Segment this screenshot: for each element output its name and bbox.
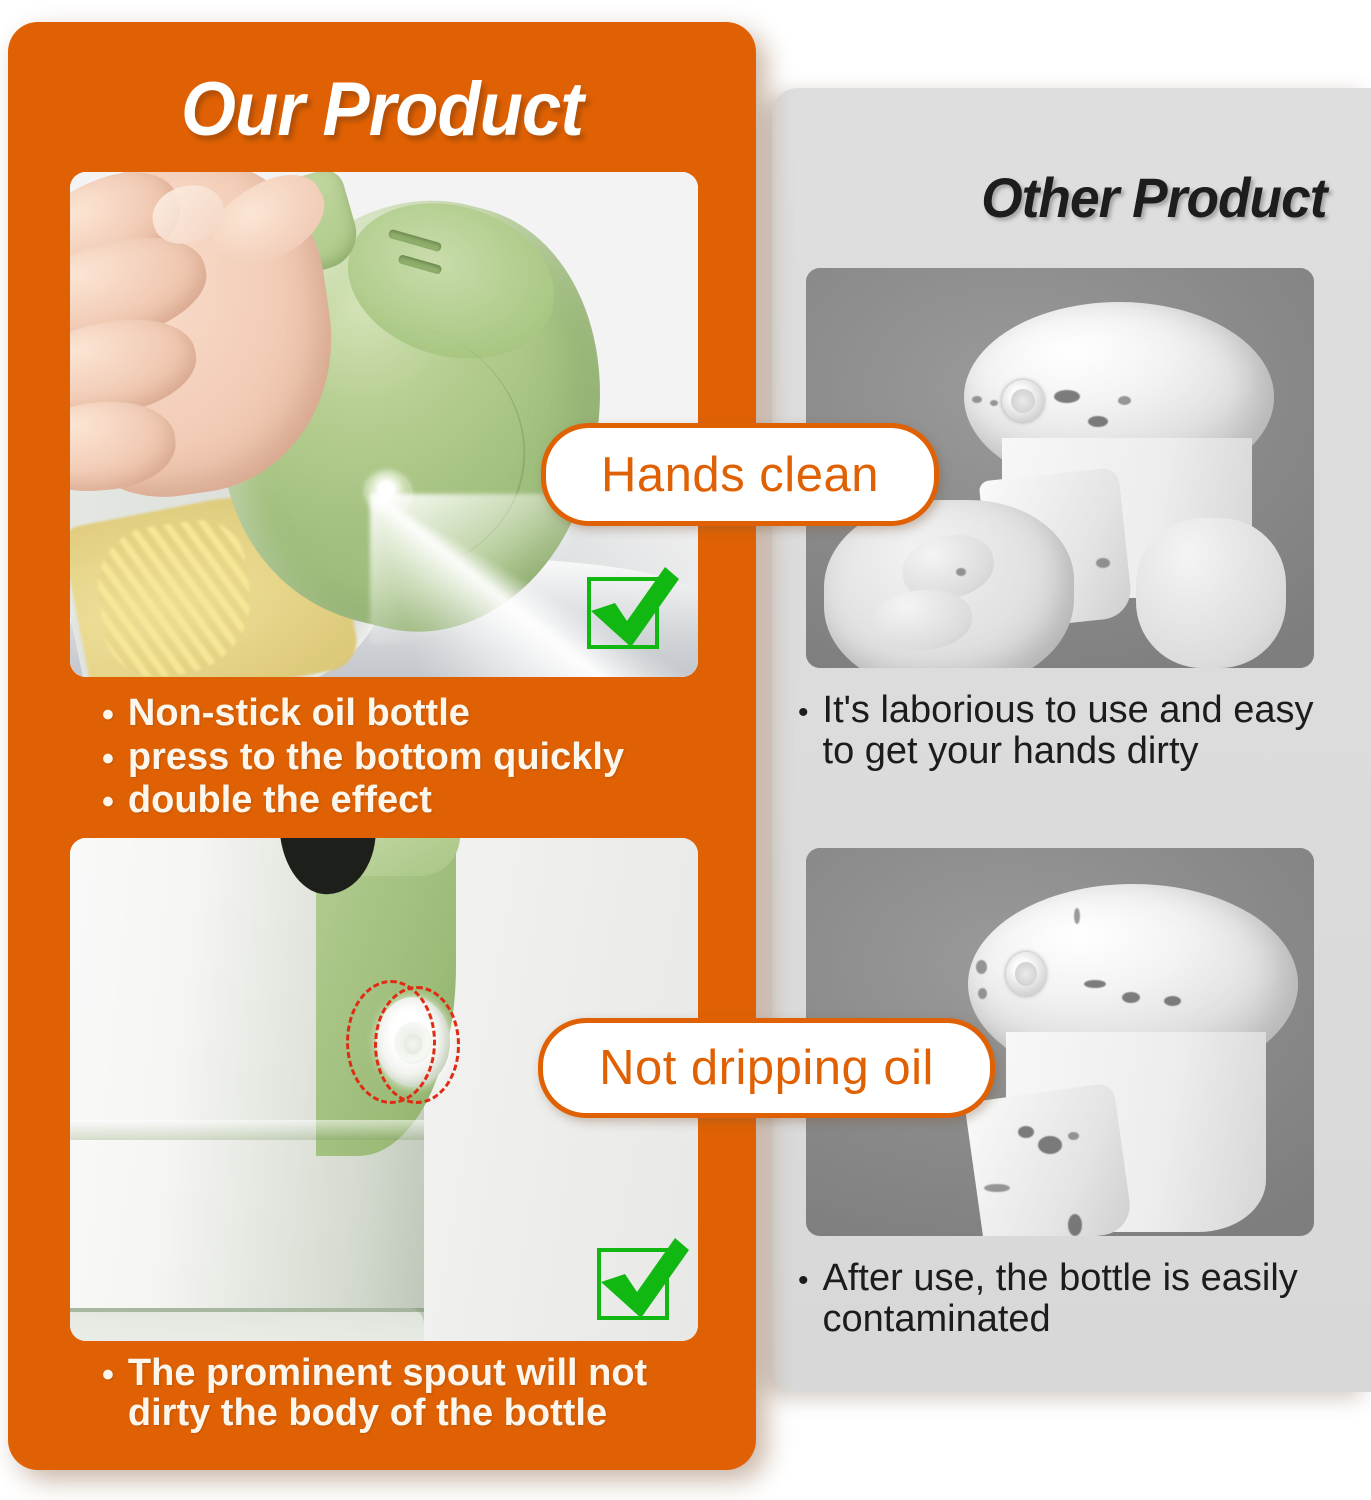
other-product-bullets-top: • It's laborious to use and easy to get … [798,690,1348,771]
other-product-bullets-bottom: • After use, the bottle is easily contam… [798,1258,1348,1339]
other-product-title: Other Product [814,165,1327,230]
list-item: • press to the bottom quickly [102,738,722,778]
glass-base [70,1308,424,1341]
oil-spot [1068,1132,1079,1140]
our-product-bullets-top: • Non-stick oil bottle • press to the bo… [102,694,722,825]
list-item: • The prominent spout will not dirty the… [102,1354,732,1433]
oil-spot [984,1184,1010,1192]
list-item: • Non-stick oil bottle [102,694,722,734]
spray-button-inner [1015,962,1037,986]
bullet-glyph: • [798,690,809,728]
body-seam-ring [70,1120,424,1140]
list-item: • It's laborious to use and easy to get … [798,690,1348,771]
list-item-label: After use, the bottle is easily contamin… [823,1258,1348,1339]
oil-spot [1054,390,1080,403]
bullet-glyph: • [102,1354,114,1392]
bullet-glyph: • [798,1258,809,1296]
oil-spot [1084,980,1106,988]
list-item: • After use, the bottle is easily contam… [798,1258,1348,1339]
highlight-circle-inner [374,986,460,1104]
oil-spot [956,568,966,576]
list-item-label: It's laborious to use and easy to get yo… [823,690,1348,771]
bullet-glyph: • [102,738,114,776]
oil-spot [976,960,987,974]
oil-spot [1118,396,1131,405]
oil-spot [1074,908,1080,924]
oil-spot [978,988,987,999]
bullet-glyph: • [102,694,114,732]
spray-button-inner [1011,389,1035,413]
bullet-glyph: • [102,781,114,819]
our-product-panel: Our Product • No [8,22,756,1470]
our-product-title: Our Product [34,66,730,153]
list-item-label: press to the bottom quickly [128,738,624,778]
oil-spot [972,396,982,403]
oil-spot [1164,996,1181,1006]
glass-base-edge [70,1308,424,1312]
green-check-icon [587,577,659,649]
oil-mist-core [370,494,570,644]
green-check-icon [597,1248,669,1320]
oil-spot [1096,558,1110,568]
oil-spot [1038,1136,1062,1154]
our-product-bullets-bottom: • The prominent spout will not dirty the… [102,1354,732,1437]
palm [1136,518,1286,668]
oil-spot [1088,416,1108,427]
finger [70,397,178,495]
list-item-label: The prominent spout will not dirty the b… [128,1354,732,1433]
list-item-label: double the effect [128,781,432,821]
oil-spot [990,400,998,406]
badge-not-dripping-oil: Not dripping oil [538,1018,995,1118]
oil-spot [1068,1214,1082,1236]
badge-hands-clean: Hands clean [541,423,939,526]
pump-lever [964,1082,1133,1236]
oil-spot [1122,992,1140,1003]
list-item-label: Non-stick oil bottle [128,694,470,734]
list-item: • double the effect [102,781,722,821]
oil-spot [1018,1126,1034,1138]
